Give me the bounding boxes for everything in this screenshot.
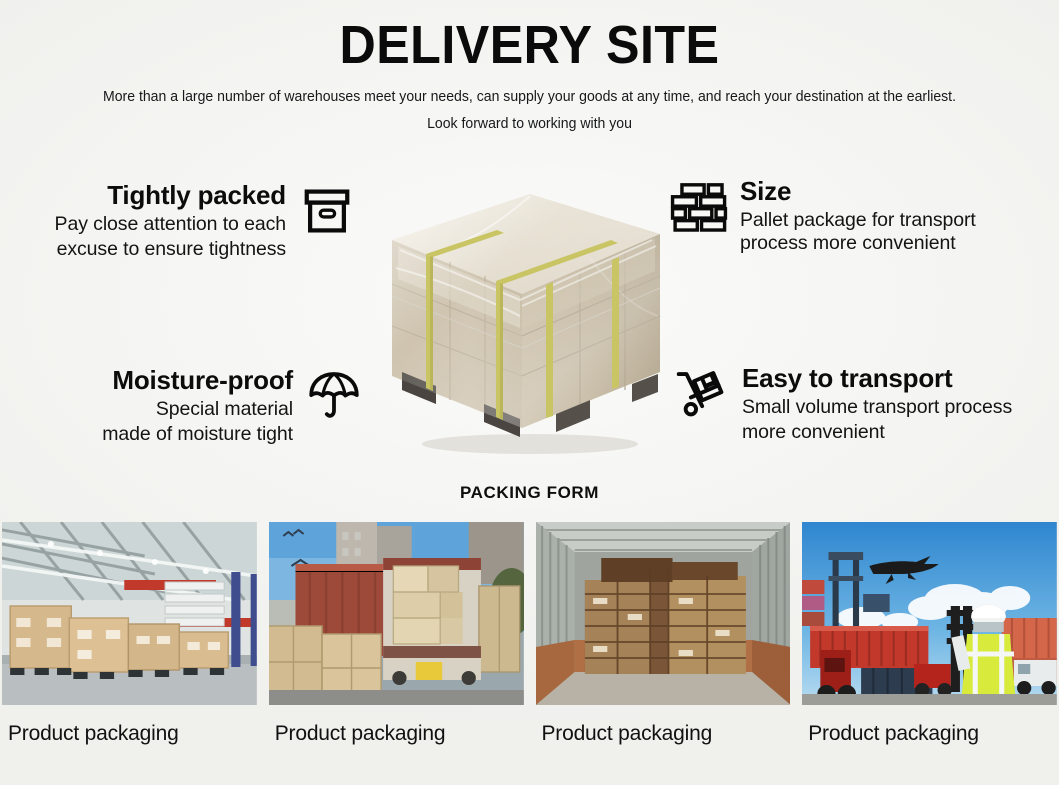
brick-wall-icon bbox=[668, 176, 730, 238]
feature-desc-line1: Special material bbox=[30, 397, 293, 422]
header-subtitle-line2: Look forward to working with you bbox=[16, 111, 1043, 138]
header-subtitle-line1: More than a large number of warehouses m… bbox=[16, 84, 1043, 111]
feature-desc-line1: Pallet package for transport bbox=[740, 208, 1058, 233]
delivery-site-banner: DELIVERY SITE More than a large number o… bbox=[0, 0, 1059, 785]
feature-desc-line2: more convenient bbox=[742, 420, 1059, 445]
container-interior-image[interactable] bbox=[536, 522, 791, 705]
feature-text: Size Pallet package for transport proces… bbox=[730, 176, 1058, 256]
gallery-item[interactable]: Product packaging bbox=[269, 522, 524, 777]
gallery-caption: Product packaging bbox=[2, 721, 257, 747]
header: DELIVERY SITE More than a large number o… bbox=[0, 0, 1059, 138]
gallery-item[interactable]: Product packaging bbox=[2, 522, 257, 777]
container-loading-image[interactable] bbox=[269, 522, 524, 705]
feature-tightly-packed: Tightly packed Pay close attention to ea… bbox=[0, 180, 358, 262]
feature-text: Easy to transport Small volume transport… bbox=[734, 363, 1059, 445]
feature-easy-to-transport: Easy to transport Small volume transport… bbox=[672, 363, 1059, 445]
packing-form-gallery: Product packaging bbox=[0, 522, 1059, 777]
feature-title: Moisture-proof bbox=[30, 365, 293, 395]
gallery-caption: Product packaging bbox=[802, 721, 1057, 747]
feature-title: Tightly packed bbox=[0, 180, 286, 210]
gallery-item[interactable]: Product packaging bbox=[802, 522, 1057, 777]
shrink-wrapped-pallet-image bbox=[380, 176, 670, 461]
feature-desc-line2: excuse to ensure tightness bbox=[0, 237, 286, 262]
feature-moisture-proof: Moisture-proof Special material made of … bbox=[30, 365, 365, 447]
feature-text: Tightly packed Pay close attention to ea… bbox=[0, 180, 296, 262]
feature-size: Size Pallet package for transport proces… bbox=[668, 176, 1058, 256]
warehouse-pallets-image[interactable] bbox=[2, 522, 257, 705]
gallery-caption: Product packaging bbox=[536, 721, 791, 747]
feature-desc-line2: made of moisture tight bbox=[30, 422, 293, 447]
feature-title: Size bbox=[740, 176, 1058, 206]
feature-title: Easy to transport bbox=[742, 363, 1059, 393]
umbrella-icon bbox=[303, 365, 365, 427]
feature-text: Moisture-proof Special material made of … bbox=[30, 365, 303, 447]
feature-desc-line1: Pay close attention to each bbox=[0, 212, 286, 237]
feature-desc-line1: Small volume transport process bbox=[742, 395, 1059, 420]
port-logistics-image[interactable] bbox=[802, 522, 1057, 705]
gallery-caption: Product packaging bbox=[269, 721, 524, 747]
hand-truck-icon bbox=[672, 363, 734, 425]
archive-box-icon bbox=[296, 180, 358, 242]
feature-desc-line2: process more convenient bbox=[740, 231, 1058, 256]
page-title: DELIVERY SITE bbox=[37, 16, 1022, 74]
packing-form-label: PACKING FORM bbox=[0, 483, 1059, 503]
gallery-item[interactable]: Product packaging bbox=[536, 522, 791, 777]
